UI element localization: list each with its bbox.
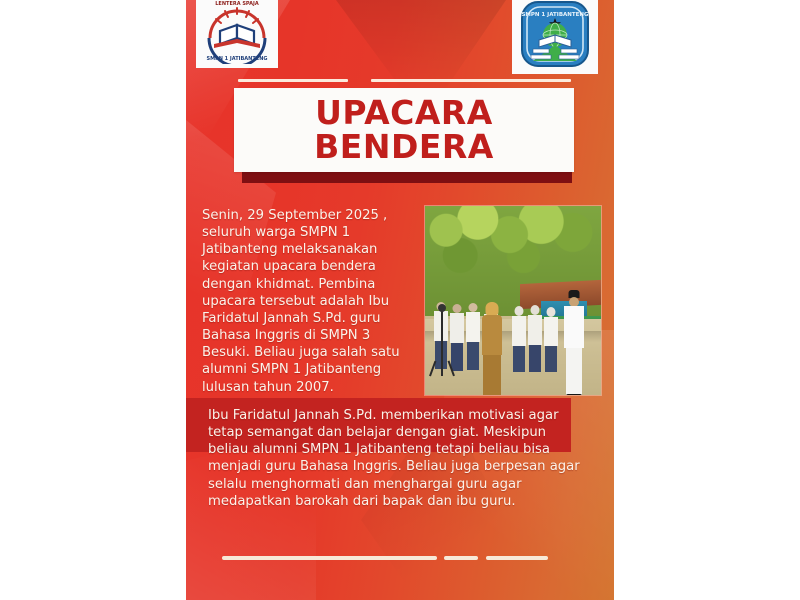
poster: LENTERA SPAJA SMPN 1 JATIBANTENG SMPN 1 … [186,0,614,600]
title-line-1: UPACARA [315,97,493,129]
smpn1-jatibanteng-lentera-logo: LENTERA SPAJA SMPN 1 JATIBANTENG [200,0,274,64]
title-dash-left [238,79,348,82]
title-dash-right [371,79,571,82]
footer-rule-short [444,556,478,560]
photo-student [465,303,481,373]
photo-flag-raiser [563,290,585,395]
flag-ceremony-photo [425,206,601,395]
screenshot-canvas: LENTERA SPAJA SMPN 1 JATIBANTENG SMPN 1 … [0,0,800,600]
smpn1-jatibanteng-shield-logo: SMPN 1 JATIBANTENG [517,0,593,71]
photo-microphone-tripod [429,360,455,376]
logo-right-top-text: SMPN 1 JATIBANTENG [521,12,589,18]
school-logo-left-card: LENTERA SPAJA SMPN 1 JATIBANTENG [196,0,278,68]
logo-left-top-text: LENTERA SPAJA [215,1,259,7]
title-line-2: BENDERA [314,131,494,163]
page-title: UPACARA BENDERA [234,88,574,172]
paragraph-two: Ibu Faridatul Jannah S.Pd. memberikan mo… [208,407,583,510]
photo-student [543,307,559,374]
footer-rule-long [222,556,437,560]
photo-student [511,306,527,374]
photo-student [527,305,543,374]
footer-rule-medium [486,556,548,560]
paragraph-one: Senin, 29 September 2025 , seluruh warga… [202,207,414,396]
school-logo-right-card: SMPN 1 JATIBANTENG [512,0,598,74]
logo-left-bottom-text: SMPN 1 JATIBANTENG [207,56,268,62]
photo-ceremony-leader [481,302,503,395]
